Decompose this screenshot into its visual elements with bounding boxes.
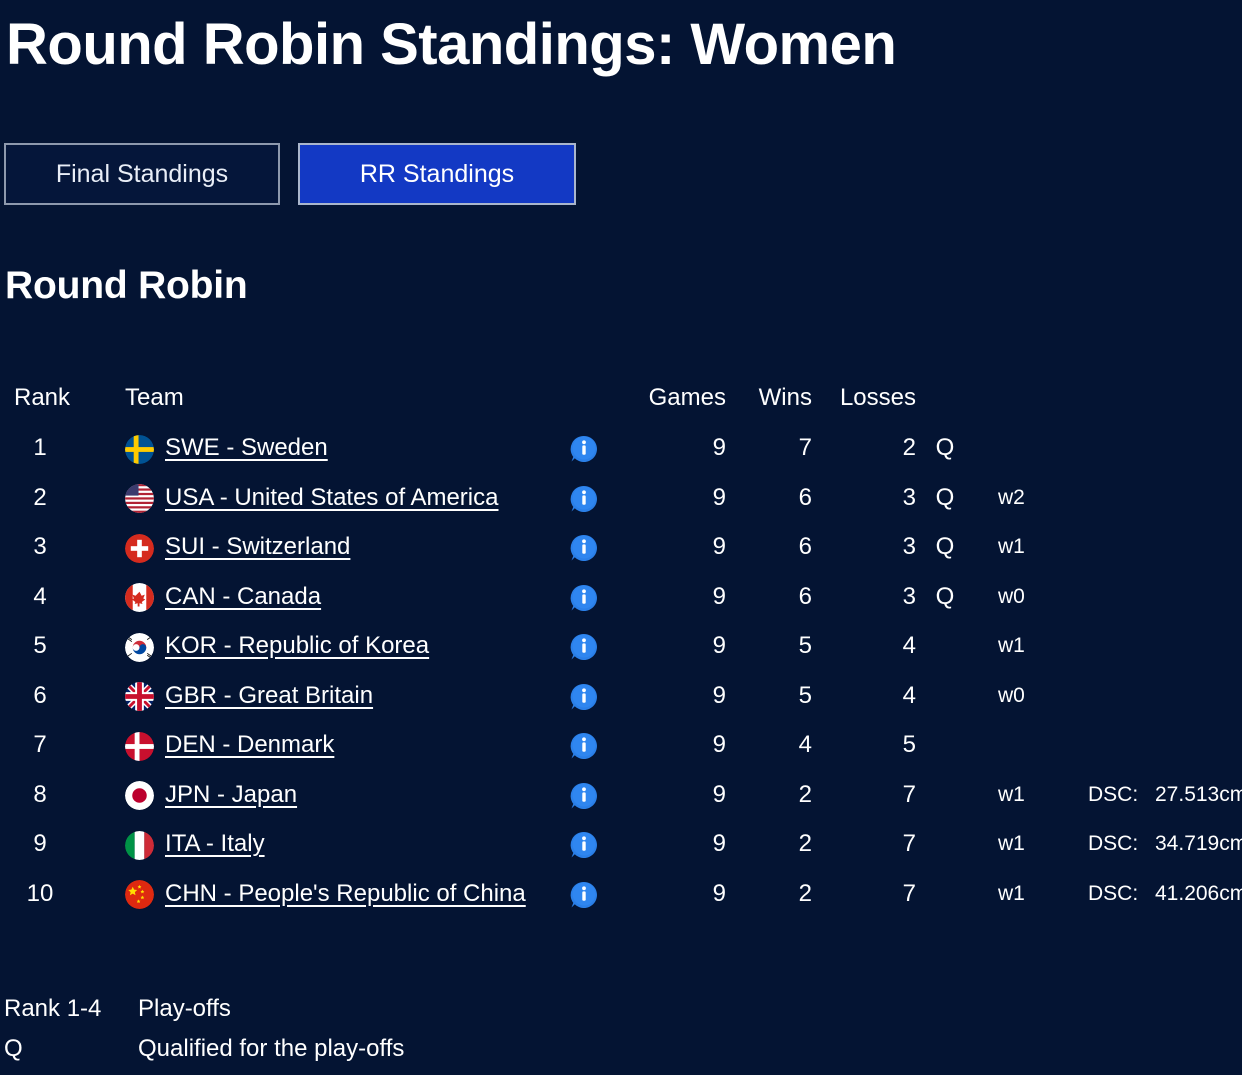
denmark-flag-icon (125, 732, 154, 761)
section-heading: Round Robin (5, 264, 248, 308)
row-dsc-value: 34.719cm (1155, 829, 1242, 859)
tab-final-standings-label: Final Standings (56, 160, 228, 189)
row-games: 9 (620, 582, 726, 612)
row-dsc-label: DSC: (1088, 829, 1152, 859)
row-games: 9 (620, 829, 726, 859)
row-rank: 7 (0, 730, 80, 760)
row-losses: 7 (826, 829, 916, 859)
row-info (566, 879, 602, 917)
row-team: JPN - Japan (125, 780, 297, 818)
row-dsc-value: 27.513cm (1155, 780, 1242, 810)
row-info (566, 829, 602, 867)
row-wins: 6 (740, 582, 812, 612)
table-row: 9ITA - Italy927w1DSC:34.719cm (0, 829, 1242, 879)
team-name: CHN - People's Republic of China (165, 879, 526, 909)
row-losses: 5 (826, 730, 916, 760)
row-team: CHN - People's Republic of China (125, 879, 526, 917)
team-link[interactable]: GBR - Great Britain (125, 681, 373, 711)
team-link[interactable]: KOR - Republic of Korea (125, 631, 429, 661)
row-info (566, 780, 602, 818)
team-name: USA - United States of America (165, 483, 498, 513)
team-link[interactable]: JPN - Japan (125, 780, 297, 810)
row-games: 9 (620, 532, 726, 562)
row-rank: 8 (0, 780, 80, 810)
row-qualified-badge: Q (930, 532, 960, 562)
row-info (566, 532, 602, 570)
tab-bar: Final Standings RR Standings (4, 143, 576, 205)
team-name: SUI - Switzerland (165, 532, 350, 562)
row-rank: 6 (0, 681, 80, 711)
row-losses: 4 (826, 681, 916, 711)
row-rank: 5 (0, 631, 80, 661)
team-name: JPN - Japan (165, 780, 297, 810)
row-rank: 1 (0, 433, 80, 463)
row-team: GBR - Great Britain (125, 681, 373, 719)
row-tiebreak: w1 (998, 829, 1048, 859)
row-losses: 2 (826, 433, 916, 463)
column-header-games: Games (620, 383, 726, 413)
team-name: CAN - Canada (165, 582, 321, 612)
row-rank: 9 (0, 829, 80, 859)
row-team: USA - United States of America (125, 483, 498, 521)
row-qualified-badge: Q (930, 582, 960, 612)
switzerland-flag-icon (125, 534, 154, 563)
legend-desc: Qualified for the play-offs (138, 1035, 404, 1063)
row-qualified-badge: Q (930, 483, 960, 513)
team-link[interactable]: ITA - Italy (125, 829, 265, 859)
info-icon[interactable] (569, 434, 599, 464)
table-row: 7DEN - Denmark945 (0, 730, 1242, 780)
italy-flag-icon (125, 831, 154, 860)
team-name: SWE - Sweden (165, 433, 328, 463)
info-icon[interactable] (569, 583, 599, 613)
table-row: 4CAN - Canada963Qw0 (0, 582, 1242, 632)
row-tiebreak: w0 (998, 681, 1048, 711)
info-icon[interactable] (569, 682, 599, 712)
table-row: 8JPN - Japan927w1DSC:27.513cm (0, 780, 1242, 830)
row-games: 9 (620, 483, 726, 513)
team-name: GBR - Great Britain (165, 681, 373, 711)
info-icon[interactable] (569, 533, 599, 563)
row-dsc-label: DSC: (1088, 780, 1152, 810)
great-britain-flag-icon (125, 682, 154, 711)
row-losses: 7 (826, 780, 916, 810)
team-link[interactable]: USA - United States of America (125, 483, 498, 513)
row-wins: 2 (740, 780, 812, 810)
row-team: ITA - Italy (125, 829, 265, 867)
table-row: 2USA - United States of America963Qw2 (0, 483, 1242, 533)
legend-key: Q (4, 1035, 23, 1063)
table-header-row: Rank Team Games Wins Losses (0, 383, 1242, 433)
table-row: 1SWE - Sweden972Q (0, 433, 1242, 483)
row-wins: 6 (740, 483, 812, 513)
team-link[interactable]: SUI - Switzerland (125, 532, 350, 562)
standings-table: Rank Team Games Wins Losses 1SWE - Swede… (0, 383, 1242, 928)
row-wins: 5 (740, 631, 812, 661)
row-team: SUI - Switzerland (125, 532, 350, 570)
sweden-flag-icon (125, 435, 154, 464)
row-info (566, 681, 602, 719)
legend-row: Rank 1-4 Play-offs (0, 995, 1242, 1035)
team-link[interactable]: CHN - People's Republic of China (125, 879, 526, 909)
row-wins: 2 (740, 879, 812, 909)
row-wins: 6 (740, 532, 812, 562)
row-games: 9 (620, 780, 726, 810)
row-games: 9 (620, 681, 726, 711)
row-rank: 2 (0, 483, 80, 513)
tab-rr-standings-label: RR Standings (360, 160, 514, 189)
row-wins: 4 (740, 730, 812, 760)
row-games: 9 (620, 879, 726, 909)
team-name: DEN - Denmark (165, 730, 334, 760)
legend: Rank 1-4 Play-offs Q Qualified for the p… (0, 995, 1242, 1075)
table-row: 6GBR - Great Britain954w0 (0, 681, 1242, 731)
row-team: CAN - Canada (125, 582, 321, 620)
row-losses: 4 (826, 631, 916, 661)
legend-row: Q Qualified for the play-offs (0, 1035, 1242, 1075)
row-qualified-badge: Q (930, 433, 960, 463)
row-games: 9 (620, 433, 726, 463)
column-header-losses: Losses (826, 383, 916, 413)
row-wins: 5 (740, 681, 812, 711)
team-name: ITA - Italy (165, 829, 265, 859)
info-icon[interactable] (569, 632, 599, 662)
japan-flag-icon (125, 781, 154, 810)
row-info (566, 631, 602, 669)
row-losses: 3 (826, 582, 916, 612)
column-header-rank: Rank (14, 383, 94, 413)
row-rank: 4 (0, 582, 80, 612)
column-header-team: Team (125, 383, 184, 413)
row-losses: 7 (826, 879, 916, 909)
row-team: KOR - Republic of Korea (125, 631, 429, 669)
canada-flag-icon (125, 583, 154, 612)
info-icon[interactable] (569, 731, 599, 761)
row-games: 9 (620, 730, 726, 760)
china-flag-icon (125, 880, 154, 909)
table-row: 10CHN - People's Republic of China927w1D… (0, 879, 1242, 929)
row-tiebreak: w1 (998, 532, 1048, 562)
info-icon[interactable] (569, 830, 599, 860)
row-losses: 3 (826, 483, 916, 513)
row-wins: 2 (740, 829, 812, 859)
legend-desc: Play-offs (138, 995, 231, 1023)
tab-rr-standings[interactable]: RR Standings (298, 143, 576, 205)
info-icon[interactable] (569, 880, 599, 910)
standings-page: Round Robin Standings: Women Final Stand… (0, 0, 1242, 1062)
info-icon[interactable] (569, 484, 599, 514)
row-info (566, 582, 602, 620)
row-rank: 10 (0, 879, 80, 909)
tab-final-standings[interactable]: Final Standings (4, 143, 280, 205)
row-tiebreak: w2 (998, 483, 1048, 513)
row-tiebreak: w0 (998, 582, 1048, 612)
south-korea-flag-icon (125, 633, 154, 662)
info-icon[interactable] (569, 781, 599, 811)
row-wins: 7 (740, 433, 812, 463)
row-tiebreak: w1 (998, 780, 1048, 810)
row-info (566, 433, 602, 471)
row-games: 9 (620, 631, 726, 661)
team-link[interactable]: CAN - Canada (125, 582, 321, 612)
column-header-wins: Wins (740, 383, 812, 413)
row-tiebreak: w1 (998, 879, 1048, 909)
row-tiebreak: w1 (998, 631, 1048, 661)
row-team: DEN - Denmark (125, 730, 334, 768)
legend-key: Rank 1-4 (4, 995, 101, 1023)
row-team: SWE - Sweden (125, 433, 328, 471)
row-dsc-value: 41.206cm (1155, 879, 1242, 909)
team-link[interactable]: DEN - Denmark (125, 730, 334, 760)
team-link[interactable]: SWE - Sweden (125, 433, 328, 463)
row-losses: 3 (826, 532, 916, 562)
team-name: KOR - Republic of Korea (165, 631, 429, 661)
row-dsc-label: DSC: (1088, 879, 1152, 909)
table-row: 5KOR - Republic of Korea954w1 (0, 631, 1242, 681)
row-info (566, 483, 602, 521)
page-title: Round Robin Standings: Women (6, 10, 896, 80)
row-info (566, 730, 602, 768)
table-row: 3SUI - Switzerland963Qw1 (0, 532, 1242, 582)
usa-flag-icon (125, 484, 154, 513)
row-rank: 3 (0, 532, 80, 562)
